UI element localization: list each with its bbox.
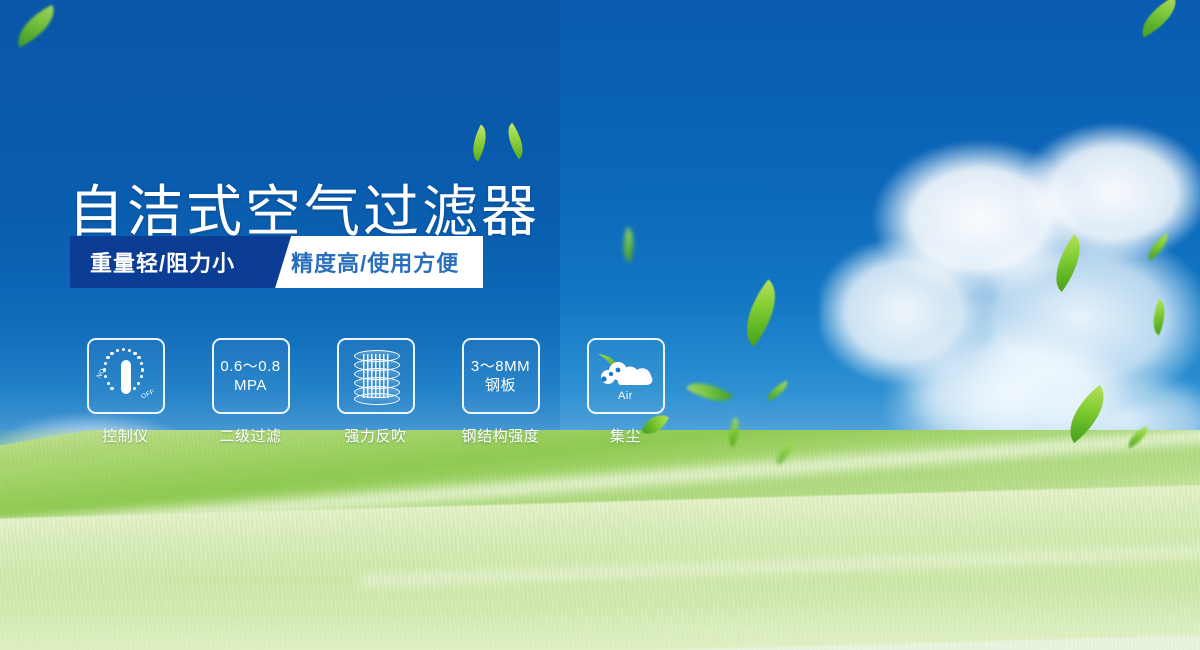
sprout-leaf-left — [465, 124, 494, 161]
product-banner: 自洁式空气过滤器 重量轻/阻力小 精度高/使用方便 — [0, 0, 1200, 650]
feature-item-steel[interactable]: 3～8MM 钢板 钢结构强度 — [453, 338, 548, 446]
feature-label: 二级过滤 — [219, 425, 281, 446]
subtitle-left-tag: 重量轻/阻力小 — [70, 236, 265, 288]
feature-icon-box — [337, 338, 415, 414]
subtitle-right-tag: 精度高/使用方便 — [275, 236, 483, 288]
feature-item-control[interactable]: NO OFF 控制仪 — [78, 338, 173, 446]
feature-label: 控制仪 — [102, 425, 149, 446]
subtitle-tag-bar: 重量轻/阻力小 精度高/使用方便 — [70, 236, 483, 288]
control-gauge-icon: NO OFF — [95, 348, 157, 404]
feature-icon-box: Air — [587, 338, 665, 414]
steel-plate-text-icon-line2: 钢板 — [485, 376, 516, 395]
grass-bottom-fade — [0, 580, 1200, 650]
sprout-decoration — [470, 112, 540, 164]
sprout-leaf-right — [500, 123, 531, 160]
feature-item-pressure[interactable]: 0.6～0.8 MPA 二级过滤 — [203, 338, 298, 446]
gauge-needle — [121, 360, 131, 394]
feature-icon-box: NO OFF — [87, 338, 165, 414]
feature-label: 强力反吹 — [344, 425, 406, 446]
pressure-text-icon-line1: 0.6～0.8 — [220, 357, 280, 376]
feature-list: NO OFF 控制仪 0.6～0.8 MPA 二级过滤 — [78, 338, 673, 446]
steel-plate-text-icon-line1: 3～8MM — [471, 357, 530, 376]
air-cloud-icon: Air — [596, 352, 656, 400]
feature-icon-box: 0.6～0.8 MPA — [212, 338, 290, 414]
filter-cartridge-icon — [350, 349, 402, 403]
cloud-glyph — [596, 352, 656, 392]
feature-label: 集尘 — [610, 425, 641, 446]
page-title: 自洁式空气过滤器 — [68, 181, 540, 243]
grass-field — [0, 430, 1200, 650]
air-cloud-label: Air — [596, 390, 656, 402]
feature-item-backblow[interactable]: 强力反吹 — [328, 338, 423, 446]
feature-label: 钢结构强度 — [461, 425, 539, 446]
feature-icon-box: 3～8MM 钢板 — [462, 338, 540, 414]
pressure-text-icon-line2: MPA — [234, 376, 267, 395]
